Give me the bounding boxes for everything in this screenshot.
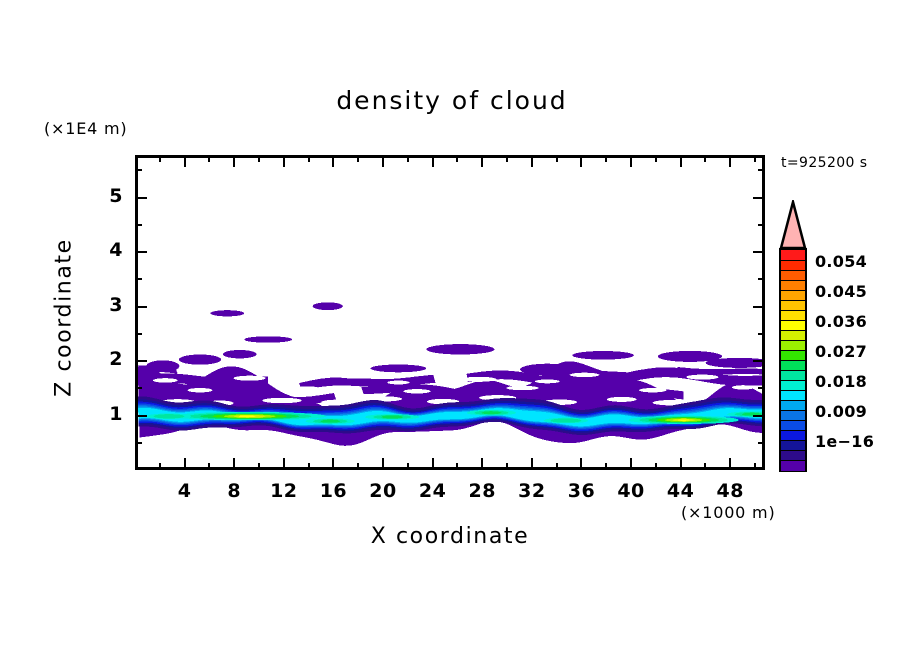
colorbar-band — [781, 300, 805, 311]
contour-field — [138, 158, 765, 470]
colorbar-band-divider — [781, 270, 805, 271]
cloud-gap — [639, 388, 666, 392]
x-tick-label: 24 — [408, 480, 458, 502]
colorbar-band — [781, 260, 805, 271]
y-major-tick-right — [753, 197, 765, 199]
x-tick-label: 48 — [705, 480, 755, 502]
x-tick-label: 12 — [259, 480, 309, 502]
x-major-tick — [630, 458, 632, 470]
x-tick-label: 16 — [308, 480, 358, 502]
y-major-tick — [135, 306, 147, 308]
colorbar-band — [781, 360, 805, 371]
x-minor-tick — [308, 463, 310, 470]
x-major-tick — [184, 458, 186, 470]
y-major-tick — [135, 197, 147, 199]
x-minor-tick — [605, 463, 607, 470]
colorbar-label: 0.054 — [815, 252, 867, 271]
cloud-gap — [387, 381, 409, 385]
y-tick-label: 1 — [87, 403, 123, 425]
colorbar-band-divider — [781, 450, 805, 451]
x-minor-tick — [159, 463, 161, 470]
detached-cloud-blob — [146, 360, 179, 372]
colorbar-band-divider — [781, 280, 805, 281]
x-minor-tick — [208, 463, 210, 470]
y-tick-label: 5 — [87, 185, 123, 207]
x-major-tick-top — [580, 155, 582, 167]
y-tick-label: 4 — [87, 239, 123, 261]
y-minor-tick — [135, 442, 142, 444]
colorbar-band — [781, 460, 805, 471]
colorbar-label: 1e−16 — [815, 432, 874, 451]
colorbar-band — [781, 400, 805, 411]
figure-canvas: density of cloud (×1E4 m) t=925200 s Z c… — [0, 0, 904, 654]
x-tick-label: 4 — [160, 480, 210, 502]
chart-title: density of cloud — [0, 86, 904, 115]
x-major-tick-top — [630, 155, 632, 167]
x-minor-tick-top — [258, 155, 260, 162]
cloud-gap — [607, 397, 637, 402]
detached-cloud-blob — [426, 344, 494, 354]
contour-band — [678, 367, 766, 375]
colorbar-band — [781, 430, 805, 441]
colorbar-band — [781, 380, 805, 391]
plot-frame — [135, 155, 765, 470]
y-major-tick-right — [753, 306, 765, 308]
y-minor-tick — [135, 169, 142, 171]
detached-cloud-blob — [210, 310, 244, 316]
cloud-gap — [732, 385, 754, 389]
cloud-gap — [234, 376, 266, 381]
colorbar-band-divider — [781, 410, 805, 411]
x-major-tick-top — [184, 155, 186, 167]
x-major-tick — [432, 458, 434, 470]
colorbar-band-divider — [781, 420, 805, 421]
x-major-tick-top — [729, 155, 731, 167]
x-tick-label: 36 — [556, 480, 606, 502]
colorbar-band-divider — [781, 320, 805, 321]
x-tick-label: 40 — [606, 480, 656, 502]
detached-cloud-blob — [223, 350, 257, 358]
colorbar-band — [781, 410, 805, 421]
colorbar-label: 0.018 — [815, 372, 867, 391]
x-major-tick — [680, 458, 682, 470]
y-minor-tick — [135, 387, 142, 389]
timestamp-annotation: t=925200 s — [781, 155, 867, 171]
x-minor-tick — [258, 463, 260, 470]
x-minor-tick — [407, 463, 409, 470]
x-major-tick-top — [233, 155, 235, 167]
x-major-tick — [729, 458, 731, 470]
colorbar-label: 0.027 — [815, 342, 867, 361]
x-tick-label: 8 — [209, 480, 259, 502]
x-major-tick-top — [680, 155, 682, 167]
plot-area: 4812162024283236404448 12345 — [135, 155, 765, 470]
x-minor-tick — [754, 463, 756, 470]
x-minor-tick-top — [506, 155, 508, 162]
cloud-gap — [291, 386, 321, 390]
x-major-tick — [283, 458, 285, 470]
y-minor-tick — [135, 278, 142, 280]
x-minor-tick-top — [704, 155, 706, 162]
colorbar-band — [781, 280, 805, 291]
x-major-tick — [332, 458, 334, 470]
y-minor-tick — [135, 224, 142, 226]
colorbar-band — [781, 450, 805, 461]
cloud-gap — [336, 374, 373, 379]
y-minor-tick-right — [758, 224, 765, 226]
x-axis-title: X coordinate — [135, 524, 765, 549]
x-minor-tick-top — [407, 155, 409, 162]
x-major-tick — [531, 458, 533, 470]
x-major-tick-top — [332, 155, 334, 167]
y-minor-tick-right — [758, 333, 765, 335]
colorbar-band-divider — [781, 300, 805, 301]
x-minor-tick — [704, 463, 706, 470]
x-major-tick-top — [481, 155, 483, 167]
y-minor-tick-right — [758, 169, 765, 171]
colorbar-band-divider — [781, 400, 805, 401]
y-major-tick-right — [753, 251, 765, 253]
colorbar-band — [781, 370, 805, 381]
x-minor-tick-top — [655, 155, 657, 162]
colorbar-band-divider — [781, 330, 805, 331]
y-minor-tick-right — [758, 387, 765, 389]
cloud-gap — [462, 377, 497, 382]
x-major-tick — [481, 458, 483, 470]
colorbar-band — [781, 250, 805, 261]
x-major-tick-top — [531, 155, 533, 167]
y-major-tick — [135, 251, 147, 253]
x-major-tick — [580, 458, 582, 470]
colorbar-band — [781, 320, 805, 331]
colorbar-band-divider — [781, 430, 805, 431]
x-major-tick-top — [432, 155, 434, 167]
detached-cloud-blob — [313, 302, 343, 310]
colorbar-band-divider — [781, 360, 805, 361]
y-tick-label: 2 — [87, 348, 123, 370]
colorbar-over-arrow — [779, 200, 807, 250]
colorbar-band-divider — [781, 380, 805, 381]
colorbar-bands — [779, 248, 807, 472]
x-minor-tick-top — [159, 155, 161, 162]
y-major-tick — [135, 415, 147, 417]
x-minor-tick-top — [754, 155, 756, 162]
y-axis-unit-label: (×1E4 m) — [44, 119, 127, 138]
detached-cloud-blob — [520, 364, 574, 376]
x-major-tick — [382, 458, 384, 470]
colorbar-band-divider — [781, 350, 805, 351]
colorbar-label: 0.045 — [815, 282, 867, 301]
colorbar-band-divider — [781, 260, 805, 261]
cloud-gap — [686, 375, 718, 380]
detached-cloud-blob — [572, 351, 633, 360]
y-major-tick-right — [753, 360, 765, 362]
cloud-gap — [403, 389, 430, 393]
x-tick-label: 20 — [358, 480, 408, 502]
cloud-gap — [506, 386, 538, 390]
colorbar-band-divider — [781, 460, 805, 461]
colorbar-band — [781, 420, 805, 431]
x-major-tick-top — [382, 155, 384, 167]
colorbar: 0.0540.0450.0360.0270.0180.0091e−16 — [779, 200, 807, 472]
x-tick-label: 32 — [507, 480, 557, 502]
x-minor-tick-top — [456, 155, 458, 162]
y-major-tick-right — [753, 415, 765, 417]
x-minor-tick-top — [308, 155, 310, 162]
colorbar-band — [781, 350, 805, 361]
cloud-gap — [262, 398, 302, 403]
x-major-tick — [233, 458, 235, 470]
detached-cloud-blob — [244, 336, 292, 342]
colorbar-band-divider — [781, 290, 805, 291]
x-axis-unit-label: (×1000 m) — [681, 503, 775, 522]
x-major-tick-top — [283, 155, 285, 167]
x-tick-label: 44 — [656, 480, 706, 502]
x-minor-tick — [357, 463, 359, 470]
y-major-tick — [135, 360, 147, 362]
y-minor-tick-right — [758, 442, 765, 444]
cloud-gap — [188, 388, 213, 392]
cloud-gap — [153, 378, 178, 382]
x-minor-tick-top — [605, 155, 607, 162]
colorbar-band-divider — [781, 340, 805, 341]
cloud-gap — [570, 373, 600, 377]
x-tick-label: 28 — [457, 480, 507, 502]
colorbar-label: 0.009 — [815, 402, 867, 421]
colorbar-band-divider — [781, 440, 805, 441]
cloud-gap — [535, 380, 560, 384]
x-minor-tick-top — [556, 155, 558, 162]
x-minor-tick — [456, 463, 458, 470]
colorbar-band-divider — [781, 370, 805, 371]
x-minor-tick — [655, 463, 657, 470]
colorbar-band — [781, 270, 805, 281]
colorbar-band — [781, 290, 805, 301]
x-minor-tick — [556, 463, 558, 470]
colorbar-band — [781, 390, 805, 401]
detached-cloud-blob — [179, 355, 221, 365]
colorbar-band-divider — [781, 390, 805, 391]
detached-cloud-blob — [371, 365, 427, 373]
colorbar-band — [781, 340, 805, 351]
y-minor-tick-right — [758, 278, 765, 280]
colorbar-label: 0.036 — [815, 312, 867, 331]
colorbar-band-divider — [781, 310, 805, 311]
colorbar-band — [781, 310, 805, 321]
x-minor-tick — [506, 463, 508, 470]
y-minor-tick — [135, 333, 142, 335]
colorbar-band — [781, 440, 805, 451]
y-axis-title: Z coordinate — [52, 218, 77, 418]
colorbar-band — [781, 330, 805, 341]
x-minor-tick-top — [208, 155, 210, 162]
x-minor-tick-top — [357, 155, 359, 162]
cloud-gap — [322, 400, 352, 405]
y-tick-label: 3 — [87, 294, 123, 316]
